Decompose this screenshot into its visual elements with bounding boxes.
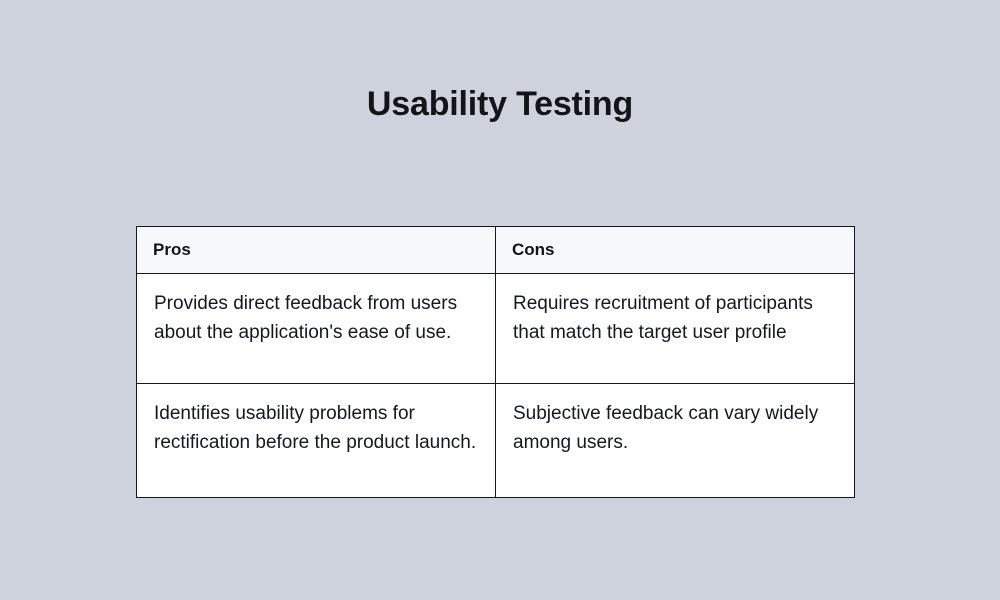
cell-pros-1: Provides direct feedback from users abou… [137, 274, 496, 384]
table-row: Identifies usability problems for rectif… [137, 384, 855, 498]
table-header-row: Pros Cons [137, 227, 855, 274]
column-header-pros: Pros [137, 227, 496, 274]
table-body: Provides direct feedback from users abou… [137, 274, 855, 498]
cell-pros-2: Identifies usability problems for rectif… [137, 384, 496, 498]
cell-text: Subjective feedback can vary widely amon… [513, 399, 837, 457]
cell-text: Identifies usability problems for rectif… [154, 399, 478, 457]
cell-text: Requires recruitment of participants tha… [513, 289, 837, 347]
cell-cons-1: Requires recruitment of participants tha… [496, 274, 855, 384]
column-header-cons: Cons [496, 227, 855, 274]
page-title: Usability Testing [0, 82, 1000, 126]
table-row: Provides direct feedback from users abou… [137, 274, 855, 384]
cell-cons-2: Subjective feedback can vary widely amon… [496, 384, 855, 498]
slide-canvas: Usability Testing Pros Cons Provides dir… [0, 0, 1000, 600]
pros-cons-table: Pros Cons Provides direct feedback from … [136, 226, 855, 498]
table-header: Pros Cons [137, 227, 855, 274]
cell-text: Provides direct feedback from users abou… [154, 289, 478, 347]
